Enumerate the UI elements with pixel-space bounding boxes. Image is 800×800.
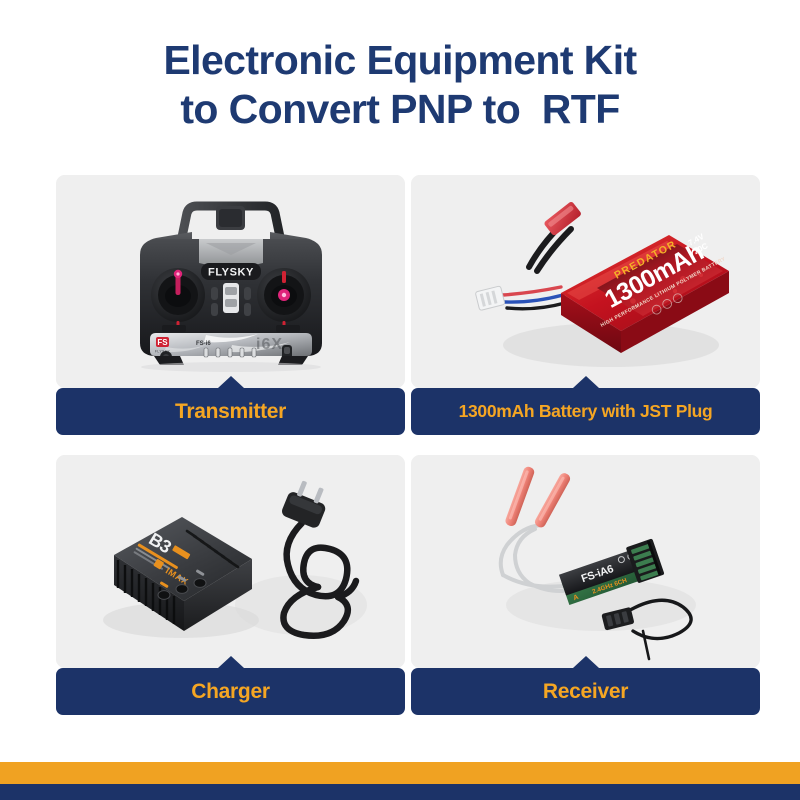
product-photo-charger: B3 IMAX — [56, 455, 405, 668]
product-grid: FLYSKY — [56, 175, 760, 720]
title-line-1: Electronic Equipment Kit — [0, 36, 800, 85]
caption-bar-charger: Charger — [56, 668, 405, 715]
product-photo-receiver: FS-iA6 A 2.4GHz 6CH — [411, 455, 760, 668]
rc-transmitter-illustration: FLYSKY — [56, 175, 405, 388]
footer-stripe-orange — [0, 762, 800, 784]
footer-stripe-navy — [0, 784, 800, 800]
product-photo-transmitter: FLYSKY — [56, 175, 405, 388]
caption-notch-icon — [218, 656, 244, 668]
caption-notch-icon — [573, 376, 599, 388]
product-cell-charger[interactable]: B3 IMAX — [56, 455, 405, 720]
product-cell-transmitter[interactable]: FLYSKY — [56, 175, 405, 440]
caption-bar-battery: 1300mAh Battery with JST Plug — [411, 388, 760, 435]
caption-notch-icon — [218, 376, 244, 388]
page-title: Electronic Equipment Kit to Convert PNP … — [0, 36, 800, 134]
product-photo-battery: PREDATOR 1300mAh 7.4V 20C HIGH PERFORMAN… — [411, 175, 760, 388]
caption-label-receiver: Receiver — [543, 680, 628, 704]
product-cell-battery[interactable]: PREDATOR 1300mAh 7.4V 20C HIGH PERFORMAN… — [411, 175, 760, 440]
product-cell-receiver[interactable]: FS-iA6 A 2.4GHz 6CH — [411, 455, 760, 720]
caption-label-battery: 1300mAh Battery with JST Plug — [459, 401, 713, 422]
caption-label-charger: Charger — [191, 680, 269, 704]
svg-text:i6X: i6X — [256, 336, 283, 353]
caption-label-transmitter: Transmitter — [175, 400, 286, 424]
lipo-battery-illustration: PREDATOR 1300mAh 7.4V 20C HIGH PERFORMAN… — [411, 175, 760, 388]
svg-text:FS: FS — [157, 338, 168, 347]
rc-receiver-illustration: FS-iA6 A 2.4GHz 6CH — [411, 455, 760, 668]
caption-notch-icon — [573, 656, 599, 668]
balance-charger-illustration: B3 IMAX — [56, 455, 405, 668]
infographic-page: Electronic Equipment Kit to Convert PNP … — [0, 0, 800, 800]
transmitter-brand-text: FLYSKY — [208, 267, 254, 279]
title-line-2: to Convert PNP to RTF — [0, 85, 800, 134]
transmitter-model-text: FS-i6 — [196, 341, 211, 347]
caption-bar-receiver: Receiver — [411, 668, 760, 715]
caption-bar-transmitter: Transmitter — [56, 388, 405, 435]
